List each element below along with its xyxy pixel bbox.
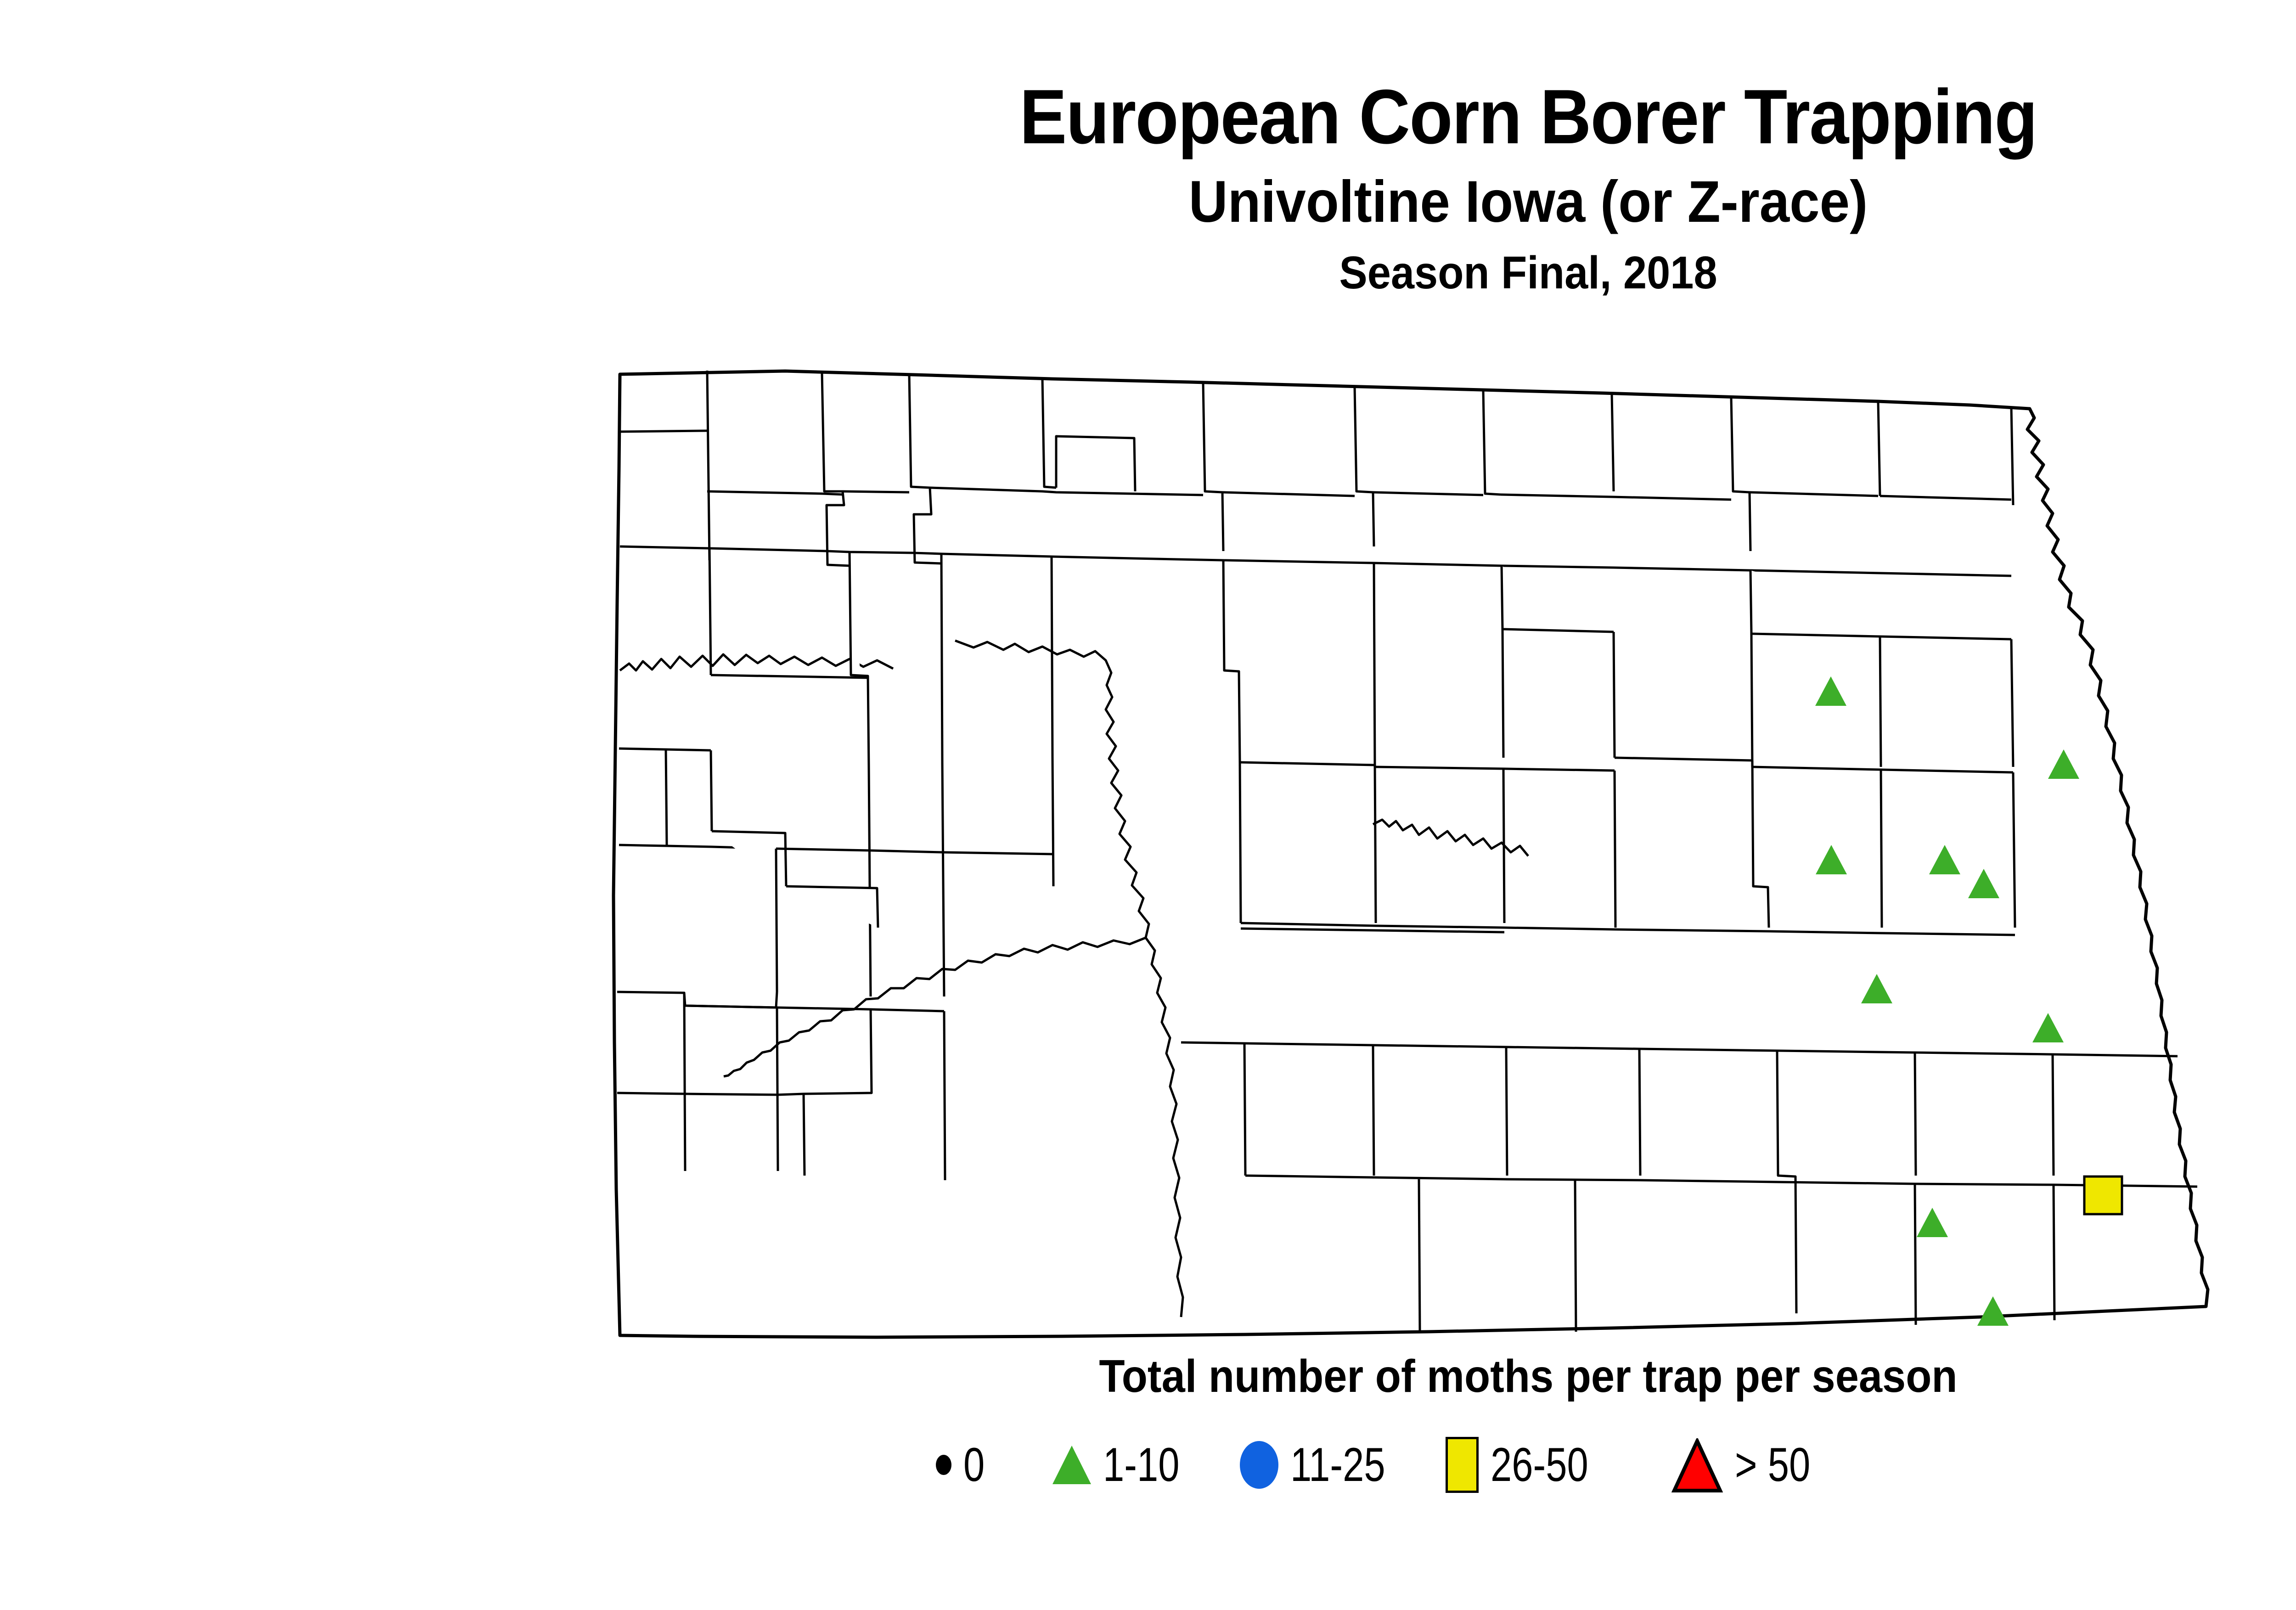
county-divide-row4-v11 — [1881, 770, 1882, 928]
county-divide-r3-v4 — [1052, 557, 1052, 758]
county-divide-se-v10 — [1915, 1184, 1916, 1325]
county-divide-r3-v1 — [709, 548, 711, 675]
county-divide-r3-v10 — [1880, 636, 1881, 767]
season-subtitle: Season Final, 2018 — [122, 250, 2296, 296]
county-divide-row4-v2 — [711, 750, 712, 831]
county-divide-se-v6 — [1915, 1053, 1916, 1176]
blue-circle-icon — [1240, 1441, 1278, 1489]
legend-item-3[interactable]: 26-50 — [1446, 1428, 1613, 1502]
county-divide-r2-h1 — [843, 491, 909, 492]
county-divide-r3-v6 — [1374, 563, 1375, 767]
county-divide-se-v8 — [1419, 1179, 1420, 1331]
legend-label-0: 0 — [963, 1441, 985, 1489]
map-marker-26-50 — [2084, 1177, 2122, 1214]
county-divide-se-v4 — [1639, 1049, 1640, 1176]
county-boundaries — [613, 371, 2208, 1337]
county-divide-se-v9 — [1575, 1180, 1576, 1332]
legend: 0 1-10 11-25 26-50 > 50 — [0, 1428, 2296, 1511]
green-triangle-icon — [1052, 1446, 1091, 1484]
county-divide-row4-v7 — [1375, 765, 1376, 923]
county-divide-row4-v5 — [1052, 758, 1053, 886]
county-divide-row6-v1 — [684, 993, 685, 1171]
page-subtitle: Univoltine Iowa (or Z-race) — [122, 173, 2296, 231]
legend-item-1[interactable]: 1-10 — [1052, 1428, 1199, 1502]
county-divide-r3-v9 — [1751, 634, 1752, 767]
county-divide-row4-v8 — [1503, 769, 1504, 923]
legend-caption: Total number of moths per trap per seaso… — [122, 1350, 2296, 1403]
legend-label-3: 26-50 — [1491, 1441, 1588, 1489]
county-divide-row4-v9 — [1615, 771, 1615, 928]
county-divide-r2-h8 — [1056, 436, 1135, 491]
county-divide-row5-v1 — [776, 849, 777, 992]
legend-item-2[interactable]: 11-25 — [1240, 1428, 1409, 1502]
county-divide-row4-v3 — [869, 767, 870, 886]
page-title: European Corn Borer Trapping — [122, 78, 2296, 155]
county-divide-se-v1 — [1244, 1043, 1245, 1176]
county-divide-row4-v6 — [1240, 762, 1241, 923]
north-dakota-county-map — [592, 354, 2227, 1355]
legend-label-1: 1-10 — [1103, 1441, 1180, 1489]
county-divide-row6-v4 — [944, 1011, 945, 1180]
map-svg — [592, 354, 2227, 1355]
black-dot-icon — [936, 1455, 951, 1475]
county-divide-r3-v3 — [941, 554, 942, 762]
state-outline — [613, 371, 2208, 1337]
title-block: European Corn Borer Trapping Univoltine … — [0, 0, 2296, 296]
county-divide-row6-v2 — [777, 1008, 778, 1171]
county-divide-se-v7 — [2053, 1054, 2054, 1176]
legend-label-4: > 50 — [1735, 1441, 1810, 1489]
legend-label-2: 11-25 — [1290, 1441, 1385, 1489]
county-divide-se-v11 — [2054, 1185, 2054, 1320]
county-divide-r3-v7 — [1503, 629, 1503, 758]
county-divide-row4-v1 — [666, 749, 667, 845]
county-divide-row4-v4 — [942, 762, 943, 882]
county-divide-row1-row2 — [620, 431, 707, 432]
county-divide-row5-v3 — [943, 882, 944, 996]
legend-item-0[interactable]: 0 — [936, 1428, 990, 1502]
county-divide-r3-v8 — [1614, 632, 1615, 758]
county-divide-se-v3 — [1506, 1047, 1507, 1176]
yellow-square-icon — [1446, 1437, 1479, 1493]
red-triangle-icon — [1671, 1438, 1723, 1492]
legend-item-4[interactable]: > 50 — [1671, 1428, 1829, 1502]
county-divide-se-v2 — [1373, 1045, 1374, 1176]
